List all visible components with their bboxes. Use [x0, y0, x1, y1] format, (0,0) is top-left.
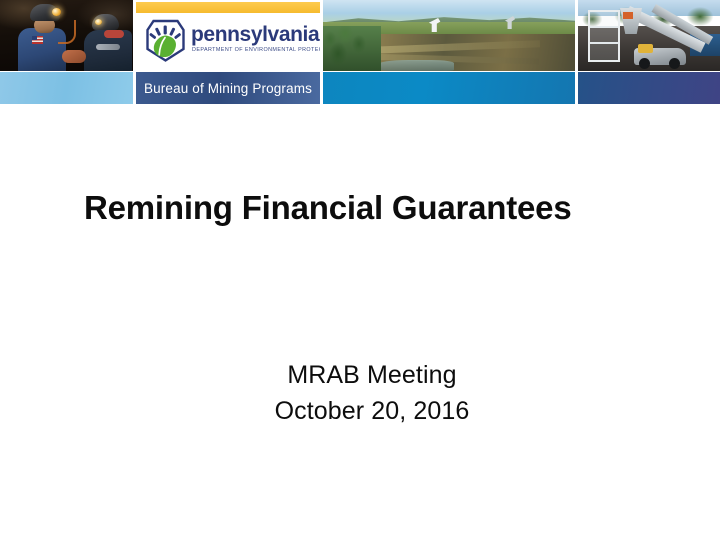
- lamp-cable: [58, 20, 76, 44]
- surface-mine-landscape-photo: [323, 0, 575, 71]
- indigo-bar: [578, 72, 720, 104]
- reflective-stripe: [96, 44, 120, 50]
- light-blue-bar: [0, 72, 133, 104]
- underground-miners-photo: [0, 0, 133, 71]
- headlamp-icon: [52, 8, 61, 16]
- miner-hands: [62, 50, 86, 63]
- pennsylvania-wordmark: pennsylvania: [191, 24, 319, 45]
- gold-accent-bar: [136, 2, 320, 13]
- bureau-title-label: Bureau of Mining Programs: [144, 81, 312, 96]
- slide-header-banner: pennsylvania DEPARTMENT OF ENVIRONMENTAL…: [0, 0, 720, 106]
- plant-orange-marker: [623, 12, 633, 19]
- mine-water-pool: [378, 60, 454, 71]
- slide-subtitle: MRAB Meeting October 20, 2016: [72, 358, 672, 429]
- subtitle-line-date: October 20, 2016: [72, 394, 672, 430]
- plant-steel-tower: [588, 10, 620, 62]
- haul-truck-cab: [638, 44, 653, 53]
- mine-treeline: [323, 26, 381, 71]
- pa-dep-logo: pennsylvania DEPARTMENT OF ENVIRONMENTAL…: [145, 18, 317, 64]
- us-flag-patch-icon: [32, 36, 43, 44]
- miner-background-collar: [104, 30, 124, 38]
- department-subtitle: DEPARTMENT OF ENVIRONMENTAL PROTECTION: [192, 48, 320, 53]
- headlamp-icon-secondary: [95, 19, 102, 25]
- coal-preparation-plant-photo: [578, 0, 720, 71]
- header-photo-row: pennsylvania DEPARTMENT OF ENVIRONMENTAL…: [0, 0, 720, 71]
- header-color-bar-row: Bureau of Mining Programs: [0, 72, 720, 104]
- pennsylvania-keystone-icon: [145, 19, 186, 62]
- agency-logo-panel: pennsylvania DEPARTMENT OF ENVIRONMENTAL…: [136, 0, 320, 71]
- page-title: Remining Financial Guarantees: [84, 189, 644, 227]
- cyan-blue-bar: [323, 72, 575, 104]
- subtitle-line-meeting: MRAB Meeting: [72, 358, 672, 394]
- bureau-title-bar: Bureau of Mining Programs: [136, 72, 320, 104]
